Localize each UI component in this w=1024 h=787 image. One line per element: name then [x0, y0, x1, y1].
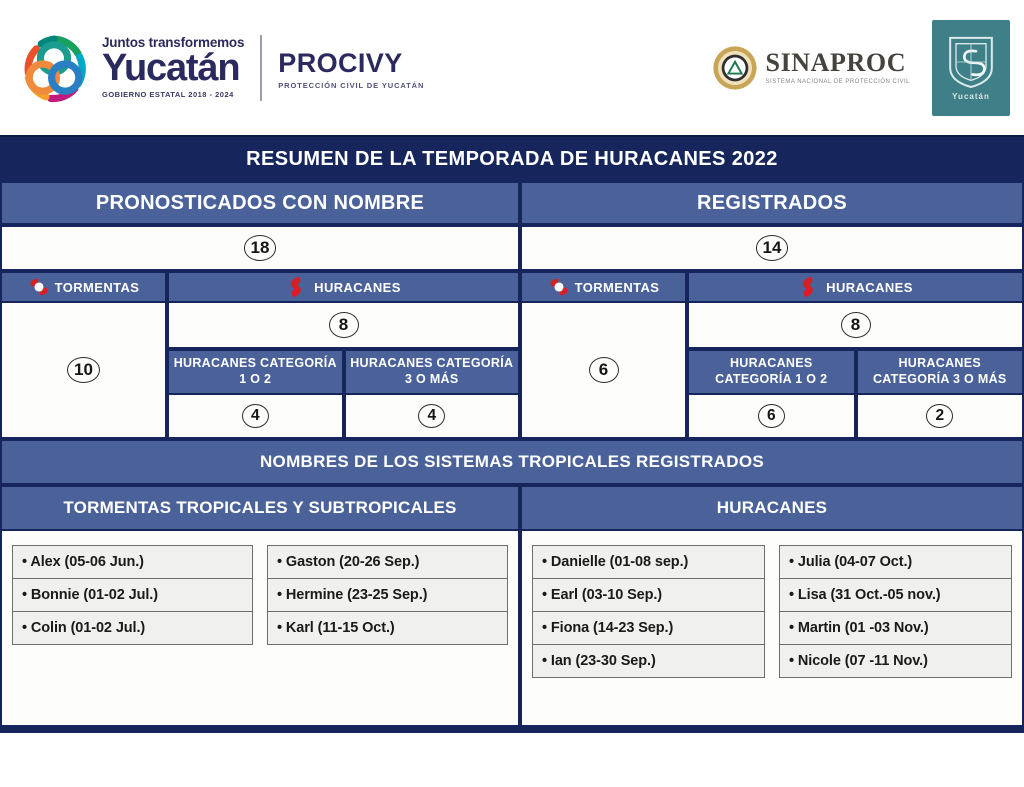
bottom-rule [0, 727, 1024, 733]
hurricanes-name-list-2: • Julia (04-07 Oct.) • Lisa (31 Oct.-05 … [779, 545, 1012, 725]
forecast-hurricanes-value-cell: 8 [167, 303, 520, 349]
forecast-cat3plus-value: 4 [418, 404, 445, 428]
forecast-cat3plus-label: HURACANES CATEGORÍA 3 O MÁS [344, 349, 521, 395]
yucatan-government-line: GOBIERNO ESTATAL 2018 - 2024 [102, 90, 244, 99]
list-item: • Alex (05-06 Jun.) [12, 545, 253, 579]
list-item: • Julia (04-07 Oct.) [779, 545, 1012, 579]
forecast-category-header-row: HURACANES CATEGORÍA 1 O 2 HURACANES CATE… [167, 349, 520, 395]
tropical-storm-icon [28, 277, 50, 297]
recorded-storms-value-cell: 6 [520, 303, 687, 439]
recorded-total-cell: 14 [520, 225, 1024, 271]
hurricanes-names-heading: HURACANES [520, 485, 1024, 531]
recorded-cat3plus-label: HURACANES CATEGORÍA 3 O MÁS [856, 349, 1024, 395]
storms-names-body: • Alex (05-06 Jun.) • Bonnie (01-02 Jul.… [0, 531, 520, 727]
recorded-cat3plus-value-cell: 2 [856, 395, 1024, 439]
list-item: • Hermine (23-25 Sep.) [267, 578, 508, 612]
recorded-heading: REGISTRADOS [520, 181, 1024, 225]
forecast-heading: PRONOSTICADOS CON NOMBRE [0, 181, 520, 225]
storms-names-panel: TORMENTAS TROPICALES Y SUBTROPICALES • A… [0, 485, 520, 727]
hurricane-icon [798, 276, 818, 298]
forecast-cat3plus-value-cell: 4 [344, 395, 521, 439]
hurricanes-names-body: • Danielle (01-08 sep.) • Earl (03-10 Se… [520, 531, 1024, 727]
forecast-total-value: 18 [244, 235, 277, 261]
forecast-hurricanes-value: 8 [329, 312, 359, 338]
forecast-storms-label: TORMENTAS [55, 280, 140, 295]
recorded-hurricanes-value: 8 [841, 312, 871, 338]
recorded-cat3plus-value: 2 [926, 404, 953, 428]
sinaproc-name: SINAPROC [766, 50, 910, 76]
storms-name-list-1: • Alex (05-06 Jun.) • Bonnie (01-02 Jul.… [12, 545, 253, 725]
list-item: • Fiona (14-23 Sep.) [532, 611, 765, 645]
hurricanes-names-panel: HURACANES • Danielle (01-08 sep.) • Earl… [520, 485, 1024, 727]
infographic-root: Juntos transformemos Yucatán GOBIERNO ES… [0, 0, 1024, 787]
logo-header: Juntos transformemos Yucatán GOBIERNO ES… [0, 0, 1024, 135]
recorded-total-value: 14 [756, 235, 789, 261]
forecast-category-value-row: 4 4 [167, 395, 520, 439]
procivy-name: PROCIVY [278, 50, 424, 77]
sinaproc-subtitle: SISTEMA NACIONAL DE PROTECCIÓN CIVIL [766, 79, 910, 85]
sinaproc-seal-icon [712, 45, 758, 91]
recorded-storms-column: TORMENTAS 6 [520, 271, 687, 439]
forecast-cat12-label: HURACANES CATEGORÍA 1 O 2 [167, 349, 344, 395]
recorded-category-header-row: HURACANES CATEGORÍA 1 O 2 HURACANES CATE… [687, 349, 1024, 395]
list-item: • Colin (01-02 Jul.) [12, 611, 253, 645]
sinaproc-branding: SINAPROC SISTEMA NACIONAL DE PROTECCIÓN … [712, 45, 910, 91]
yucatan-swirl-logo [14, 28, 94, 108]
page-title: RESUMEN DE LA TEMPORADA DE HURACANES 202… [0, 135, 1024, 181]
yucatan-state-name: Yucatán [102, 49, 244, 88]
list-item: • Karl (11-15 Oct.) [267, 611, 508, 645]
shield-wordmark: Yucatán [952, 92, 990, 101]
storms-names-heading: TORMENTAS TROPICALES Y SUBTROPICALES [0, 485, 520, 531]
forecast-storms-column: TORMENTAS 10 [0, 271, 167, 439]
header-divider [260, 35, 262, 101]
names-columns: TORMENTAS TROPICALES Y SUBTROPICALES • A… [0, 485, 1024, 727]
list-item: • Danielle (01-08 sep.) [532, 545, 765, 579]
forecast-storms-value-cell: 10 [0, 303, 167, 439]
hurricanes-name-list-1: • Danielle (01-08 sep.) • Earl (03-10 Se… [532, 545, 765, 725]
agency-logos: SINAPROC SISTEMA NACIONAL DE PROTECCIÓN … [712, 0, 1024, 135]
recorded-hurricanes-column: HURACANES 8 HURACANES CATEGORÍA 1 O 2 HU… [687, 271, 1024, 439]
list-item: • Martin (01 -03 Nov.) [779, 611, 1012, 645]
forecast-hurricanes-label: HURACANES [314, 280, 401, 295]
forecast-cat12-value: 4 [242, 404, 269, 428]
list-item: • Gaston (20-26 Sep.) [267, 545, 508, 579]
list-item: • Nicole (07 -11 Nov.) [779, 644, 1012, 678]
recorded-breakdown: TORMENTAS 6 HURACANES [520, 271, 1024, 439]
list-item: • Lisa (31 Oct.-05 nov.) [779, 578, 1012, 612]
hurricane-icon [286, 276, 306, 298]
recorded-hurricanes-header: HURACANES [687, 271, 1024, 303]
recorded-storms-value: 6 [589, 357, 619, 383]
procivy-branding: PROCIVY PROTECCIÓN CIVIL DE YUCATÁN [278, 46, 424, 90]
recorded-cat12-label: HURACANES CATEGORÍA 1 O 2 [687, 349, 856, 395]
procivy-subtitle: PROTECCIÓN CIVIL DE YUCATÁN [278, 81, 424, 90]
recorded-category-value-row: 6 2 [687, 395, 1024, 439]
summary-table: PRONOSTICADOS CON NOMBRE REGISTRADOS 18 … [0, 181, 1024, 733]
forecast-hurricanes-header: HURACANES [167, 271, 520, 303]
forecast-storms-value: 10 [67, 357, 100, 383]
recorded-storms-header: TORMENTAS [520, 271, 687, 303]
recorded-storms-label: TORMENTAS [575, 280, 660, 295]
recorded-hurricanes-label: HURACANES [826, 280, 913, 295]
forecast-hurricanes-column: HURACANES 8 HURACANES CATEGORÍA 1 O 2 HU… [167, 271, 520, 439]
list-item: • Earl (03-10 Sep.) [532, 578, 765, 612]
yucatan-branding: Juntos transformemos Yucatán GOBIERNO ES… [0, 28, 424, 108]
summary-breakdown-row: TORMENTAS 10 HURACANES [0, 271, 1024, 439]
list-item: • Ian (23-30 Sep.) [532, 644, 765, 678]
forecast-storms-header: TORMENTAS [0, 271, 167, 303]
forecast-total-cell: 18 [0, 225, 520, 271]
tropical-storm-icon [548, 277, 570, 297]
recorded-cat12-value-cell: 6 [687, 395, 856, 439]
summary-total-row: 18 14 [0, 225, 1024, 271]
names-section-title: NOMBRES DE LOS SISTEMAS TROPICALES REGIS… [0, 439, 1024, 485]
storms-name-list-2: • Gaston (20-26 Sep.) • Hermine (23-25 S… [267, 545, 508, 725]
yucatan-shield-icon: Yucatán [932, 20, 1010, 116]
recorded-cat12-value: 6 [758, 404, 785, 428]
forecast-cat12-value-cell: 4 [167, 395, 344, 439]
yucatan-wordmark: Juntos transformemos Yucatán GOBIERNO ES… [102, 36, 244, 98]
summary-heading-row: PRONOSTICADOS CON NOMBRE REGISTRADOS [0, 181, 1024, 225]
recorded-hurricanes-value-cell: 8 [687, 303, 1024, 349]
list-item: • Bonnie (01-02 Jul.) [12, 578, 253, 612]
forecast-breakdown: TORMENTAS 10 HURACANES [0, 271, 520, 439]
